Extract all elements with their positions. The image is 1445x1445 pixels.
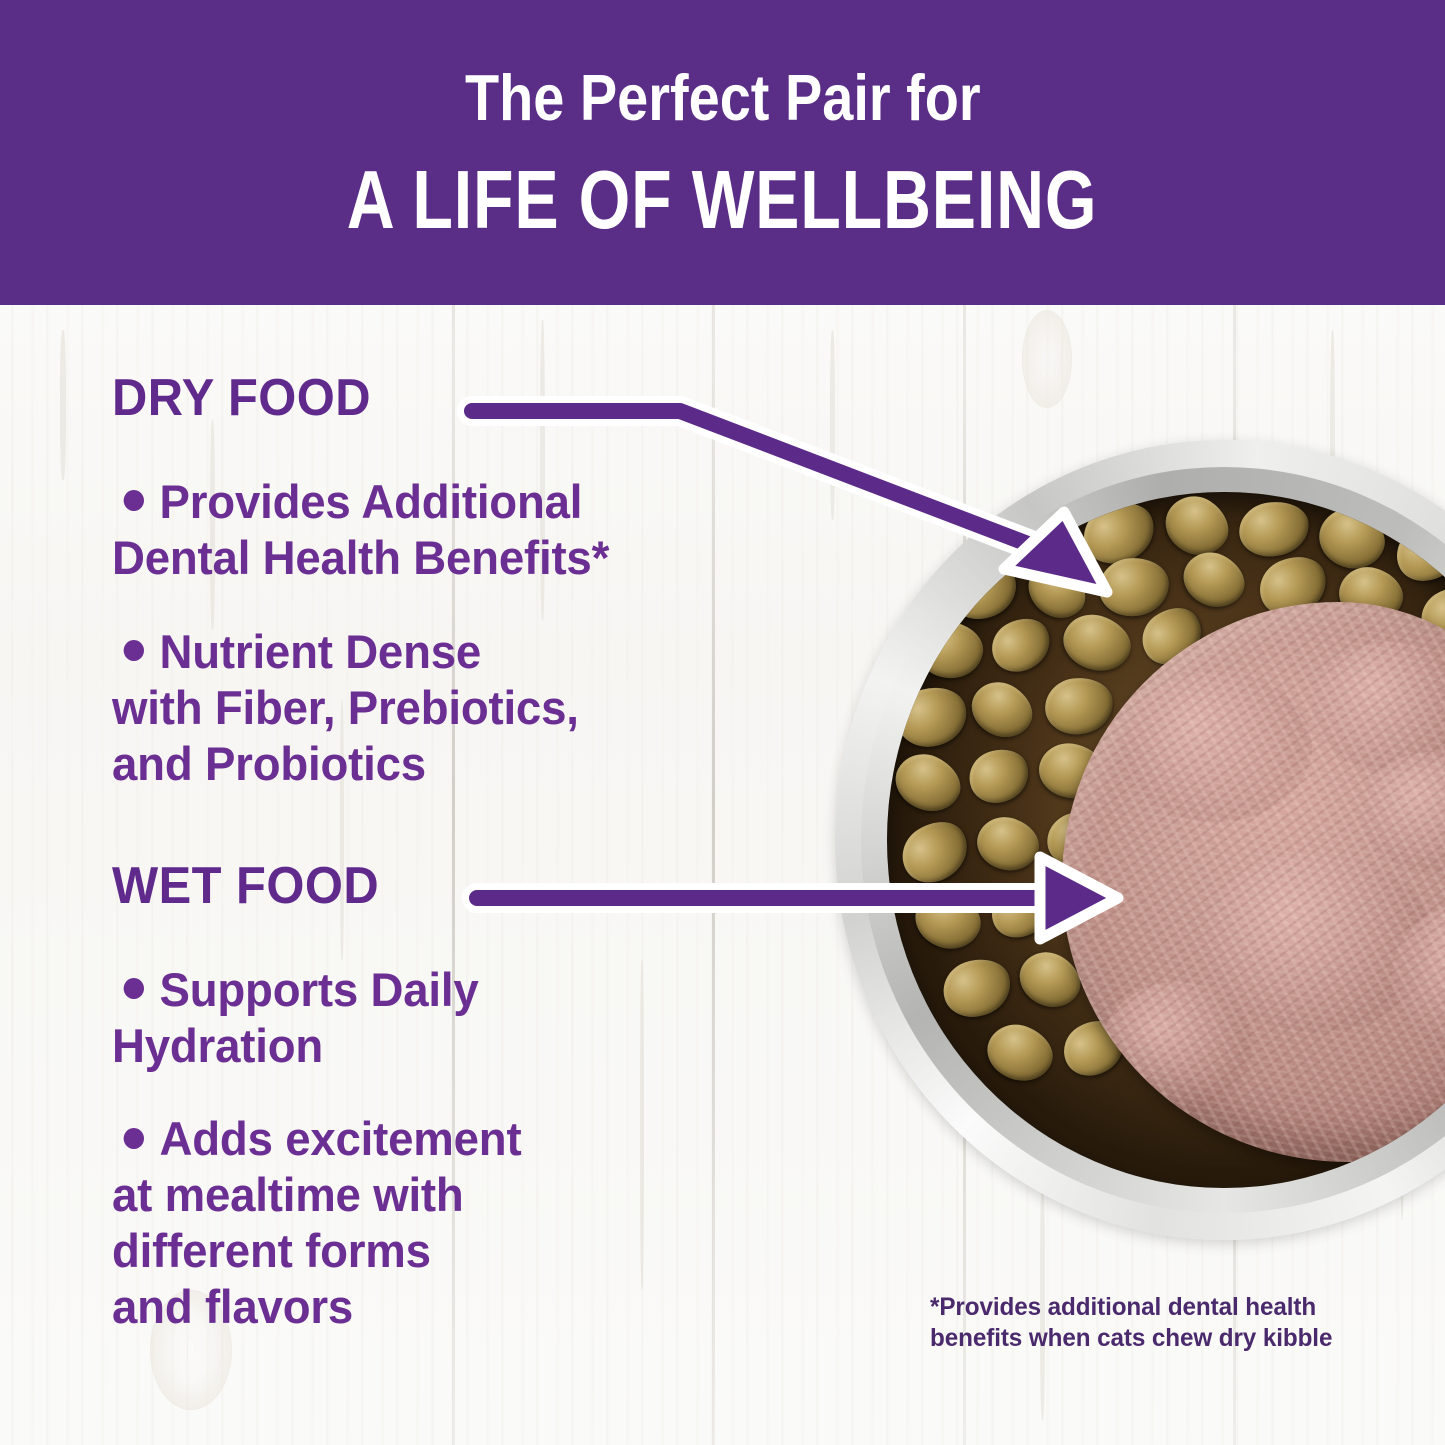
header-title-line2: A LIFE OF WELLBEING xyxy=(347,158,1097,241)
wood-grain xyxy=(60,330,66,480)
wood-grain xyxy=(1400,900,1404,1220)
bullet-text: Dental Health Benefits* xyxy=(112,531,609,584)
wood-grain xyxy=(1330,330,1335,610)
bullet-text: Nutrient Dense xyxy=(160,625,482,678)
bullet-dot-icon xyxy=(124,1128,144,1149)
bullet-text: Provides Additional xyxy=(160,475,583,528)
list-item: Nutrient Dense with Fiber, Prebiotics, a… xyxy=(112,624,820,792)
benefits-column: DRY FOOD Provides Additional Dental Heal… xyxy=(112,372,842,1335)
wet-food-bullet-list: Supports Daily Hydration Adds excitement… xyxy=(112,962,842,1336)
header-band: The Perfect Pair for A LIFE OF WELLBEING xyxy=(0,0,1445,305)
header-title-line1: The Perfect Pair for xyxy=(465,65,981,130)
dry-food-bullet-list: Provides Additional Dental Health Benefi… xyxy=(112,474,842,792)
bullet-text: Supports Daily xyxy=(160,963,479,1016)
bullet-text: with Fiber, Prebiotics, xyxy=(112,681,579,734)
infographic-page: The Perfect Pair for A LIFE OF WELLBEING… xyxy=(0,0,1445,1445)
list-item: Supports Daily Hydration xyxy=(112,962,820,1074)
bullet-text: and flavors xyxy=(112,1280,353,1333)
section-title-dry-food: DRY FOOD xyxy=(112,372,798,424)
bullet-dot-icon xyxy=(124,490,144,511)
bullet-dot-icon xyxy=(124,640,144,661)
bullet-text: and Probiotics xyxy=(112,737,426,790)
section-title-wet-food: WET FOOD xyxy=(112,860,798,912)
bullet-text: at mealtime with xyxy=(112,1168,464,1221)
list-item: Adds excitement at mealtime with differe… xyxy=(112,1111,820,1335)
list-item: Provides Additional Dental Health Benefi… xyxy=(112,474,820,586)
wood-knot xyxy=(1022,310,1072,408)
bullet-dot-icon xyxy=(124,978,144,999)
footnote-text: *Provides additional dental health benef… xyxy=(930,1292,1386,1353)
bullet-text: Adds excitement xyxy=(160,1112,522,1165)
bullet-text: different forms xyxy=(112,1224,431,1277)
bullet-text: Hydration xyxy=(112,1019,323,1072)
